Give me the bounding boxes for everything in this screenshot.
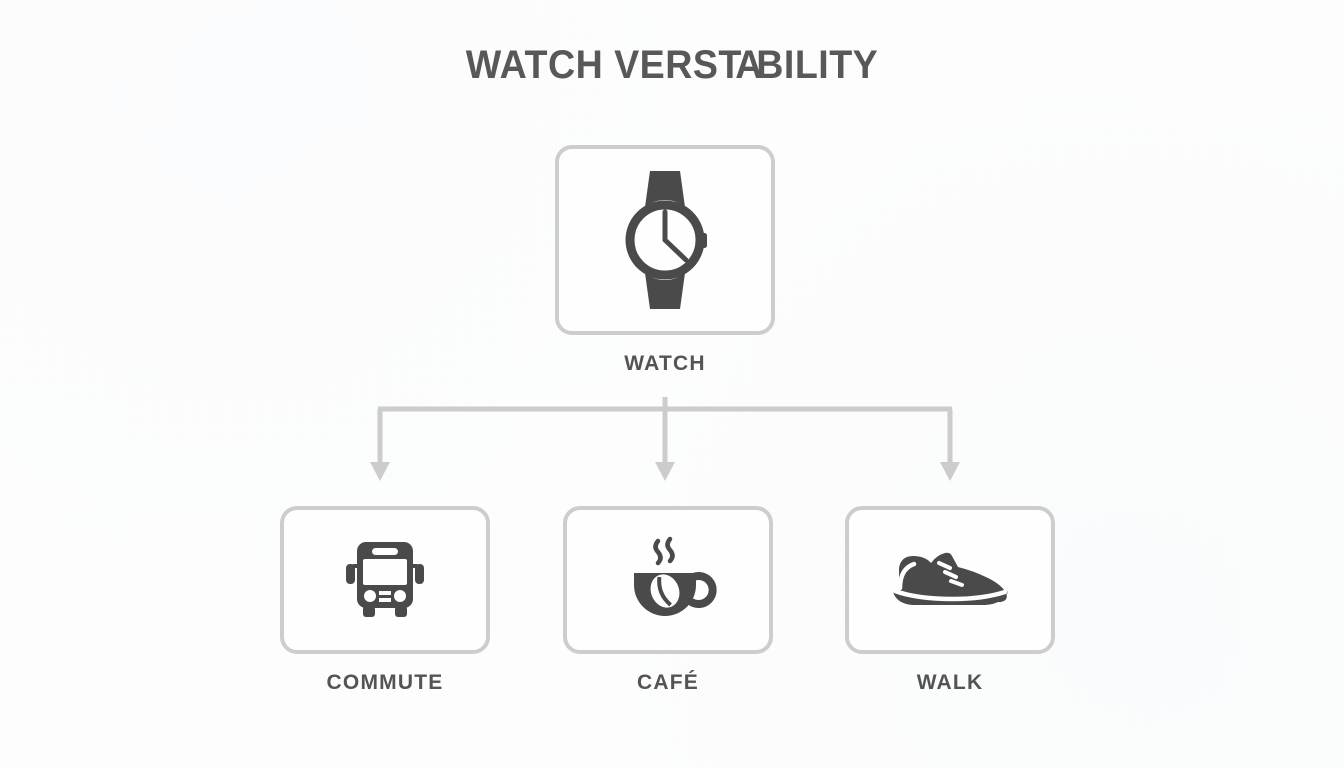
node-walk-card[interactable] xyxy=(845,506,1055,654)
node-cafe[interactable]: CAFÉ xyxy=(563,506,773,695)
node-walk-label: WALK xyxy=(845,671,1055,695)
node-commute-label: COMMUTE xyxy=(280,671,490,695)
node-cafe-label: CAFÉ xyxy=(563,671,773,695)
node-walk[interactable]: WALK xyxy=(845,506,1055,695)
node-commute[interactable]: COMMUTE xyxy=(280,506,490,695)
node-watch-label: WATCH xyxy=(555,352,775,376)
node-cafe-card[interactable] xyxy=(563,506,773,654)
page-title-part-1: WATCH VERST xyxy=(466,43,742,87)
arrowhead-walk xyxy=(940,462,960,481)
sneaker-icon xyxy=(887,544,1013,616)
node-watch-card[interactable] xyxy=(555,145,775,335)
wristwatch-icon xyxy=(610,165,720,315)
bus-icon xyxy=(339,538,431,622)
arrowhead-cafe xyxy=(655,462,675,481)
node-watch[interactable]: WATCH xyxy=(555,145,775,376)
diagram-canvas: WATCH VERSTABILITY xyxy=(0,0,1344,768)
page-title: WATCH VERSTABILITY xyxy=(40,40,1303,90)
arrowhead-commute xyxy=(370,462,390,481)
page-title-part-3: BILITY xyxy=(756,43,878,87)
node-commute-card[interactable] xyxy=(280,506,490,654)
coffee-cup-icon xyxy=(618,535,718,625)
